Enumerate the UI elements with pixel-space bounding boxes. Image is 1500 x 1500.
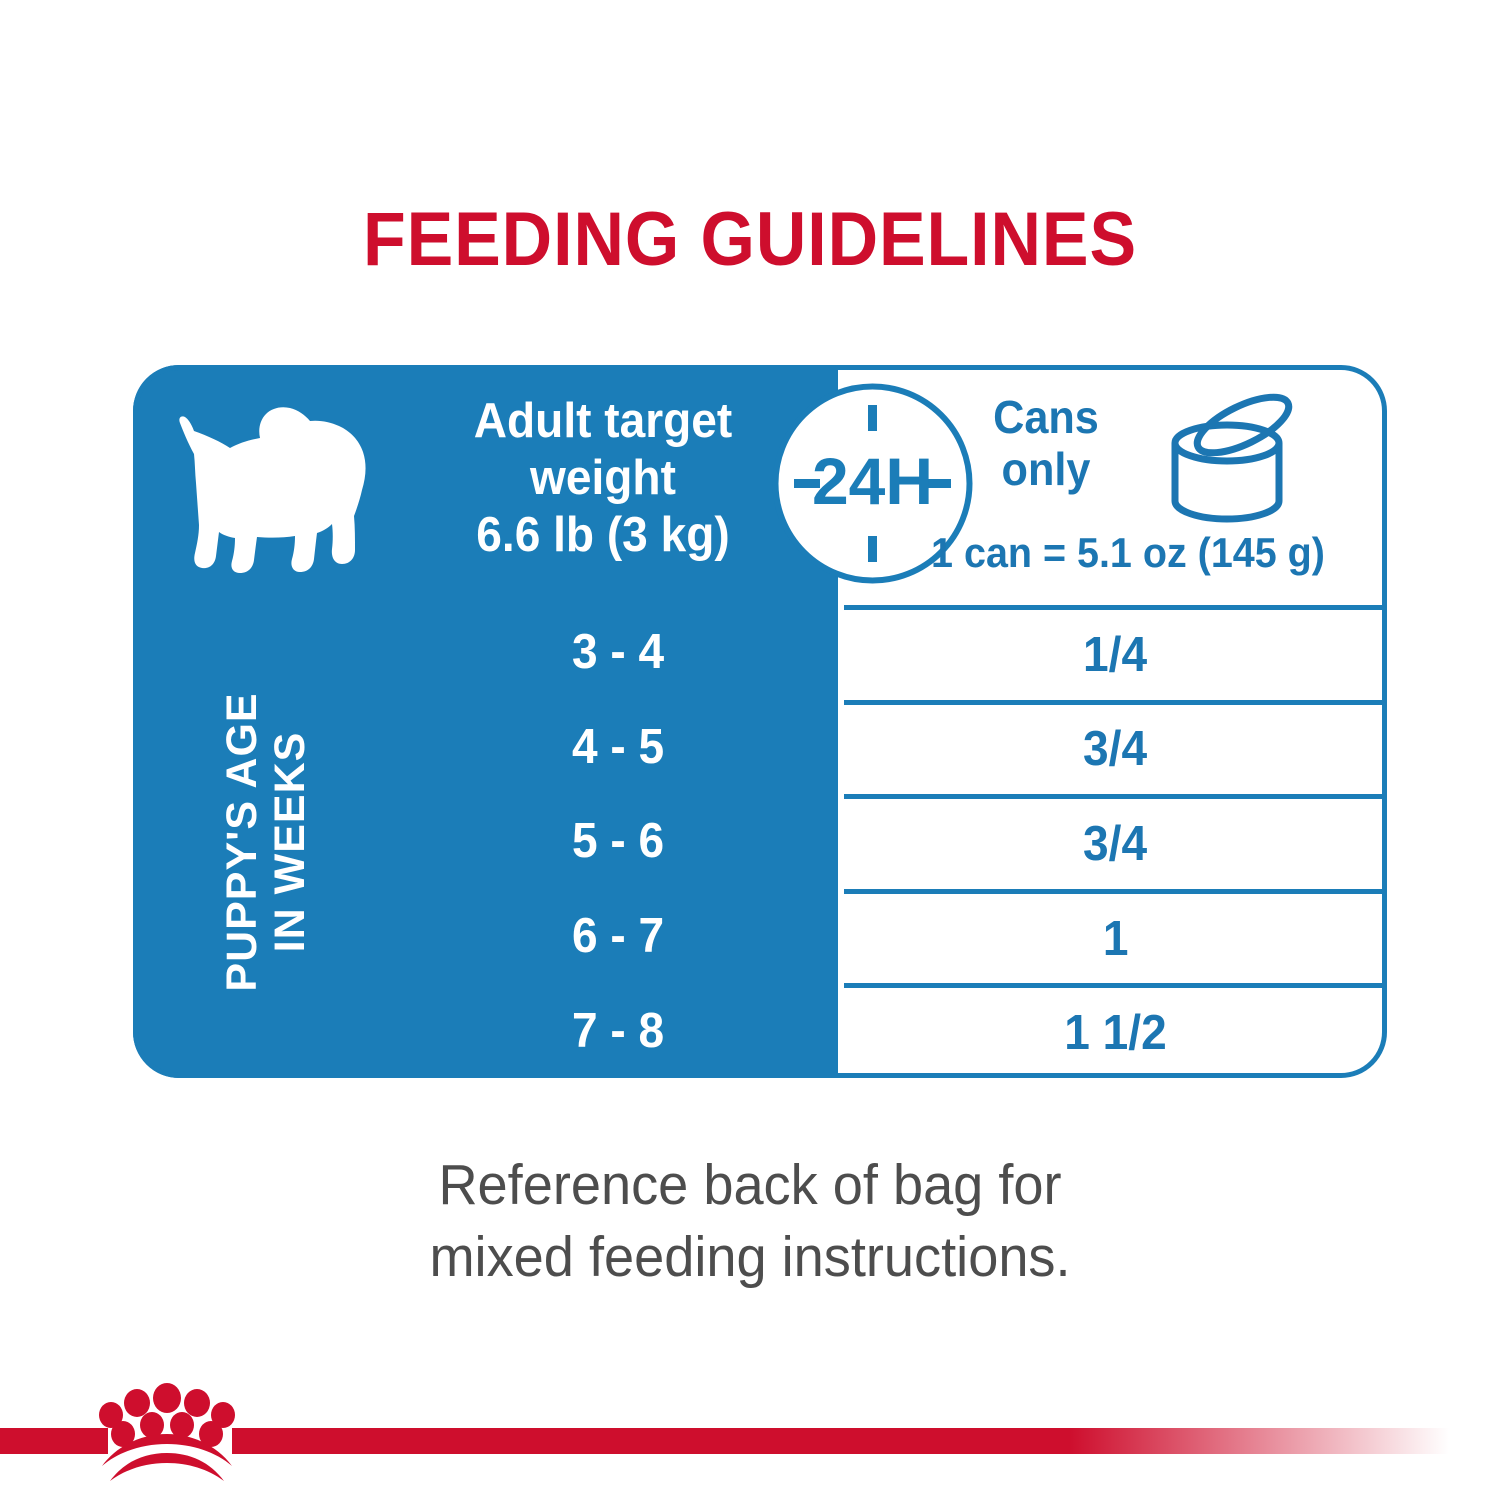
cell-can-amount: 1 1/2 <box>844 983 1387 1078</box>
can-amount-text: 3/4 <box>1083 816 1147 872</box>
footer-line-1: Reference back of bag for <box>38 1150 1463 1222</box>
royal-canin-crown-logo <box>96 1382 238 1482</box>
table-row: 5 - 6 3/4 <box>398 794 1387 889</box>
age-range-text: 5 - 6 <box>572 813 664 869</box>
adult-target-line-3: 6.6 lb (3 kg) <box>401 507 805 564</box>
adult-target-line-1: Adult target <box>401 393 805 450</box>
can-amount-text: 1 <box>1103 911 1129 967</box>
cans-only-label: Cans only <box>957 391 1136 496</box>
puppy-age-line-2: IN WEEKS <box>266 692 314 991</box>
age-range-text: 7 - 8 <box>572 1003 664 1059</box>
cans-line-1: Cans <box>957 391 1136 443</box>
adult-target-line-2: weight <box>401 450 805 507</box>
age-range-text: 3 - 4 <box>572 624 664 680</box>
open-can-icon <box>1161 391 1301 526</box>
footer-note: Reference back of bag for mixed feeding … <box>38 1150 1463 1294</box>
brand-bar-right <box>232 1428 1500 1454</box>
footer-line-2: mixed feeding instructions. <box>38 1222 1463 1294</box>
page-title: FEEDING GUIDELINES <box>60 196 1440 283</box>
table-body: 3 - 4 1/4 4 - 5 3/4 5 - 6 3/4 6 - 7 1 7 … <box>398 605 1387 1078</box>
feeding-guidelines-table: Adult target weight 6.6 lb (3 kg) 24H Ca… <box>133 365 1387 1078</box>
adult-target-weight: Adult target weight 6.6 lb (3 kg) <box>401 393 805 563</box>
table-header-row: Adult target weight 6.6 lb (3 kg) 24H Ca… <box>133 365 1387 605</box>
cell-can-amount: 1/4 <box>844 605 1387 700</box>
cell-can-amount: 1 <box>844 889 1387 984</box>
can-amount-text: 1 1/2 <box>1064 1005 1166 1061</box>
table-row: 3 - 4 1/4 <box>398 605 1387 700</box>
can-amount-text: 3/4 <box>1083 721 1147 777</box>
cell-age-range: 4 - 5 <box>398 700 838 795</box>
age-range-text: 4 - 5 <box>572 719 664 775</box>
puppy-age-label: PUPPY'S AGE IN WEEKS <box>217 692 313 991</box>
cell-age-range: 5 - 6 <box>398 794 838 889</box>
cell-age-range: 6 - 7 <box>398 889 838 984</box>
badge-24h-text: 24H <box>812 444 933 518</box>
puppy-age-column: PUPPY'S AGE IN WEEKS <box>133 605 398 1078</box>
cell-age-range: 7 - 8 <box>398 983 838 1078</box>
can-amount-text: 1/4 <box>1083 627 1147 683</box>
table-row: 4 - 5 3/4 <box>398 700 1387 795</box>
cell-can-amount: 3/4 <box>844 794 1387 889</box>
can-equivalence-label: 1 can = 5.1 oz (145 g) <box>907 529 1349 577</box>
cans-line-2: only <box>957 443 1136 495</box>
brand-bar-left <box>0 1428 108 1454</box>
cell-can-amount: 3/4 <box>844 700 1387 795</box>
puppy-age-line-1: PUPPY'S AGE <box>217 692 265 991</box>
age-range-text: 6 - 7 <box>572 908 664 964</box>
table-row: 7 - 8 1 1/2 <box>398 983 1387 1078</box>
puppy-silhouette-icon <box>161 401 376 576</box>
table-row: 6 - 7 1 <box>398 889 1387 984</box>
cell-age-range: 3 - 4 <box>398 605 838 700</box>
